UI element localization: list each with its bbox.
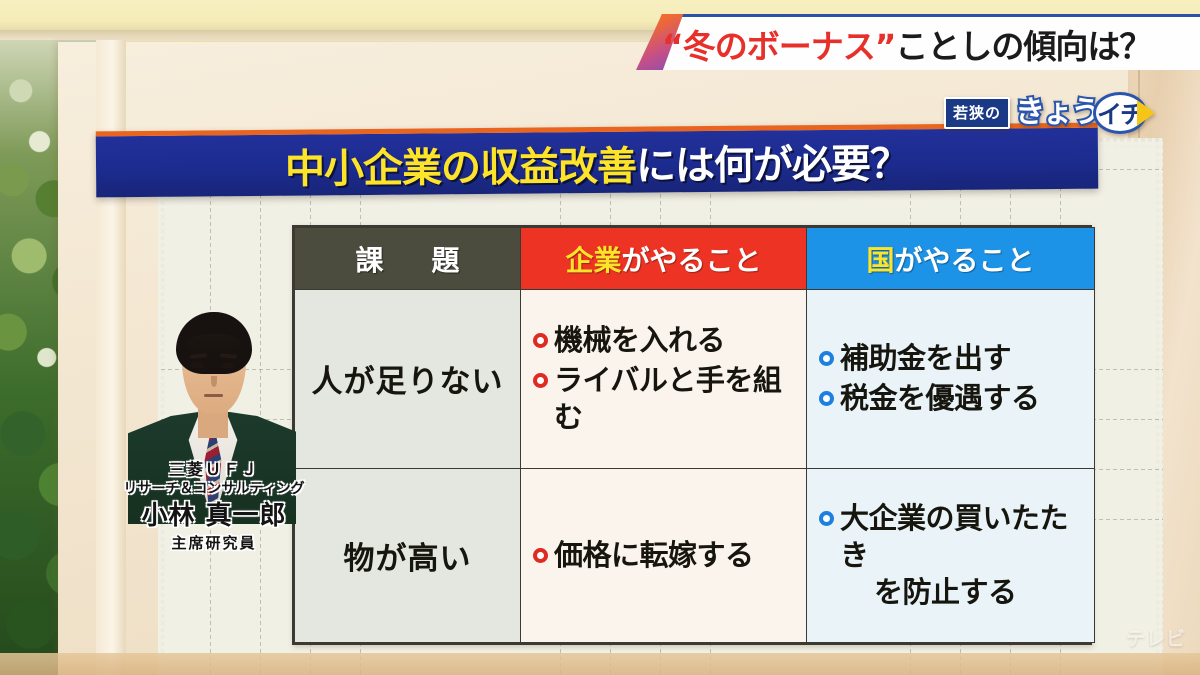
company-bullet-list-row2: 価格に転嫁する bbox=[531, 537, 806, 574]
avatar-eye-left bbox=[191, 363, 204, 368]
expert-caption: 三菱ＵＦＪ リサーチ＆コンサルティング 小林 真一郎 主席研究員 bbox=[122, 460, 306, 553]
main-title-highlight: 中小企業の収益改善 bbox=[285, 143, 636, 192]
list-item: ライバルと手を組む bbox=[531, 362, 806, 436]
company-bullet-list-row1: 機械を入れる ライバルと手を組む bbox=[531, 322, 806, 436]
list-item-label: ライバルと手を組む bbox=[554, 362, 806, 436]
comparison-table: 課 題 企業がやること 国がやること 人が足りない bbox=[292, 225, 1092, 645]
table-header-company-accent: 企業 bbox=[565, 244, 621, 277]
avatar-hair bbox=[176, 312, 252, 374]
headline-text: “冬のボーナス”ことしの傾向は？ bbox=[662, 20, 1151, 68]
headline-rest: ことしの傾向は？ bbox=[895, 27, 1151, 66]
main-title-plain: には何が必要？ bbox=[636, 141, 909, 189]
list-item: 価格に転嫁する bbox=[531, 537, 806, 574]
table-header-issue-label: 課 題 bbox=[355, 244, 469, 277]
company-cell-row1: 機械を入れる ライバルと手を組む bbox=[521, 290, 807, 469]
expert-org-line2: リサーチ＆コンサルティング bbox=[122, 480, 306, 498]
table-header-row: 課 題 企業がやること 国がやること bbox=[295, 228, 1095, 290]
list-item: 補助金を出す bbox=[817, 340, 1094, 377]
state-bullet-list-row1: 補助金を出す 税金を優遇する bbox=[817, 340, 1094, 417]
list-item-label: 価格に転嫁する bbox=[554, 537, 806, 574]
avatar-mouth bbox=[204, 394, 223, 397]
avatar-nose bbox=[211, 376, 217, 387]
program-logo: 若狭の きょう イチ bbox=[944, 92, 1155, 134]
issue-cell-row2: 物が高い bbox=[295, 468, 521, 643]
state-cell-row2: 大企業の買いたたき を防止する bbox=[807, 468, 1095, 643]
table-header-company-plain: がやること bbox=[622, 244, 762, 277]
table-header-issue: 課 題 bbox=[295, 228, 521, 290]
bullet-ring-icon bbox=[819, 511, 834, 526]
list-item: 大企業の買いたたき を防止する bbox=[817, 500, 1094, 611]
expert-role: 主席研究員 bbox=[122, 534, 306, 554]
expert-name: 小林 真一郎 bbox=[122, 500, 306, 534]
bullet-ring-icon bbox=[819, 351, 834, 366]
list-item-label-line2: を防止する bbox=[840, 574, 1094, 611]
list-item: 機械を入れる bbox=[531, 322, 806, 359]
main-title-text: 中小企業の収益改善には何が必要？ bbox=[285, 131, 909, 194]
list-item-label: 補助金を出す bbox=[840, 340, 1094, 377]
tv-broadcast-frame: “冬のボーナス”ことしの傾向は？ 若狭の きょう イチ 中小企業の収益改善には何… bbox=[0, 0, 1200, 675]
issue-cell-row1: 人が足りない bbox=[295, 290, 521, 469]
company-cell-row2: 価格に転嫁する bbox=[521, 468, 807, 643]
table-header-state: 国がやること bbox=[807, 228, 1095, 290]
program-logo-badge: イチ bbox=[1093, 92, 1155, 134]
program-logo-region-label: 若狭の bbox=[944, 97, 1010, 129]
state-cell-row1: 補助金を出す 税金を優遇する bbox=[807, 290, 1095, 469]
table-header-company: 企業がやること bbox=[521, 228, 807, 290]
bullet-ring-icon bbox=[533, 333, 548, 348]
right-arrow-icon bbox=[1137, 100, 1155, 126]
expert-org-line1: 三菱ＵＦＪ bbox=[122, 460, 306, 480]
table-row: 人が足りない 機械を入れる ライバルと手を組む bbox=[295, 290, 1095, 469]
table-header-state-plain: がやること bbox=[895, 244, 1035, 277]
studio-floor-strip bbox=[0, 653, 1200, 675]
bullet-ring-icon bbox=[819, 391, 834, 406]
bullet-ring-icon bbox=[533, 548, 548, 563]
program-logo-name-part1: きょう bbox=[1015, 98, 1099, 128]
station-watermark: テレビ bbox=[1126, 624, 1186, 651]
list-item-label: 機械を入れる bbox=[554, 322, 806, 359]
list-item-label: 大企業の買いたたき を防止する bbox=[840, 500, 1094, 611]
table-header-state-accent: 国 bbox=[866, 244, 894, 277]
headline-banner: “冬のボーナス”ことしの傾向は？ bbox=[636, 14, 1200, 70]
headline-quoted-term: “冬のボーナス” bbox=[662, 27, 895, 66]
expert-photo-block: 三菱ＵＦＪ リサーチ＆コンサルティング 小林 真一郎 主席研究員 bbox=[128, 292, 296, 592]
table-row: 物が高い 価格に転嫁する bbox=[295, 468, 1095, 643]
avatar-eye-right bbox=[221, 363, 234, 368]
state-bullet-list-row2: 大企業の買いたたき を防止する bbox=[817, 500, 1094, 611]
list-item: 税金を優遇する bbox=[817, 380, 1094, 417]
bullet-ring-icon bbox=[533, 373, 548, 388]
list-item-label: 税金を優遇する bbox=[840, 380, 1094, 417]
list-item-label-line1: 大企業の買いたたき bbox=[840, 501, 1068, 572]
